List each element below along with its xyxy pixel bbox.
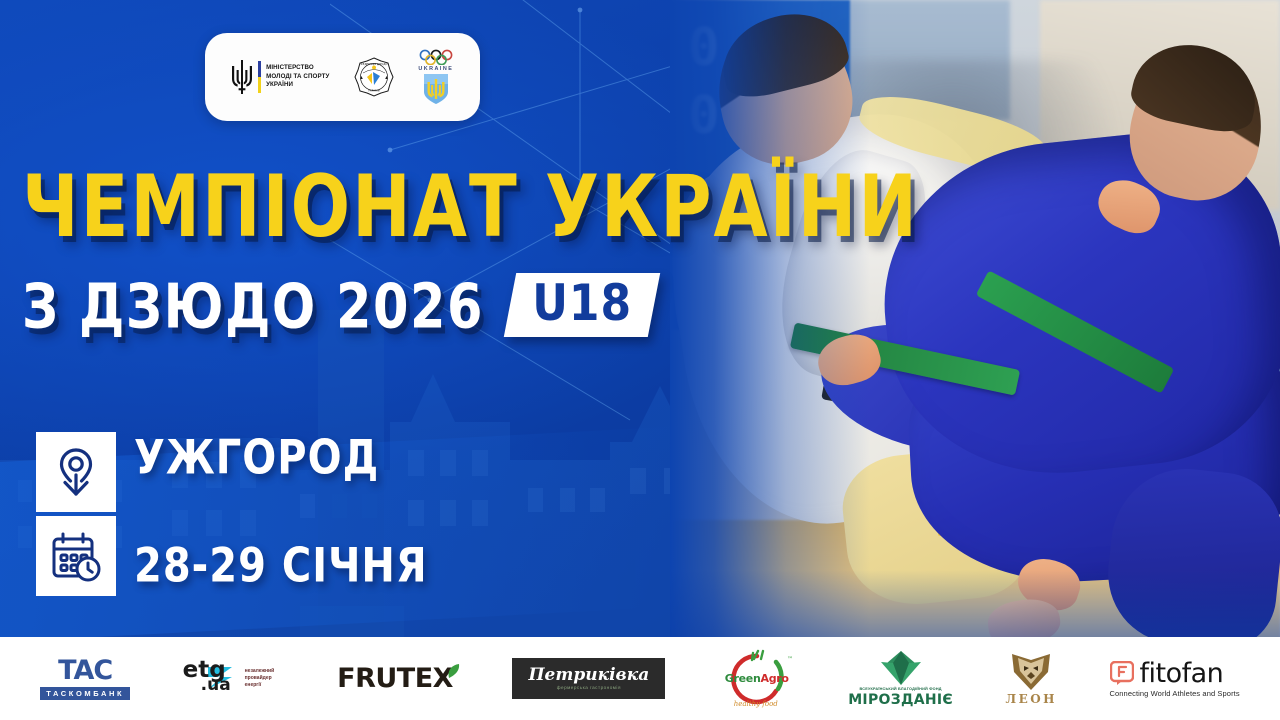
event-poster: 0 0 0 0 3:0 bbox=[0, 0, 1280, 720]
tascombank-mark: TAC bbox=[58, 657, 112, 684]
sponsor-greenagro[interactable]: ™ GreenAgro healthy food bbox=[718, 648, 796, 710]
svg-text:™: ™ bbox=[787, 656, 793, 663]
sponsor-leon[interactable]: ЛЕОН bbox=[1005, 652, 1057, 705]
olympic-shield-trident-icon bbox=[423, 73, 449, 105]
event-city: УЖГОРОД bbox=[134, 434, 428, 481]
judo-federation-seal-icon: ФЕДЕРАЦІЯ ДЗЮДО УКРАЇНИ bbox=[354, 57, 394, 97]
sponsor-etg-ua[interactable]: etg .ua незалежний провайдер енергії bbox=[183, 659, 285, 699]
olympic-rings-icon bbox=[418, 49, 454, 65]
poster-title-block: ЧЕМПІОНАТ УКРАЇНИ bbox=[22, 165, 742, 234]
tascombank-name: ТАСКОМБАНК bbox=[40, 687, 130, 700]
location-icon-box bbox=[36, 432, 116, 512]
svg-text:ФЕДЕРАЦІЯ ДЗЮДО: ФЕДЕРАЦІЯ ДЗЮДО bbox=[360, 62, 387, 66]
sponsor-mirozdanie[interactable]: ВСЕУКРАЇНСЬКИЙ БЛАГОДІЙНИЙ ФОНД МІРОЗДАН… bbox=[848, 651, 953, 707]
event-detail-texts: УЖГОРОД 28-29 СІЧНЯ bbox=[134, 432, 428, 596]
sponsor-petrykivka[interactable]: Петриківка фермерська гастрономія bbox=[512, 658, 665, 699]
location-pin-icon bbox=[48, 444, 104, 500]
title-line-2: З ДЗЮДО 2026 bbox=[22, 277, 484, 338]
sponsor-frutex[interactable]: FRUTEX bbox=[337, 665, 460, 692]
event-details-block: УЖГОРОД 28-29 СІЧНЯ bbox=[36, 432, 428, 596]
sponsor-tascombank[interactable]: TAC ТАСКОМБАНК bbox=[40, 657, 130, 700]
event-dates: 28-29 СІЧНЯ bbox=[134, 542, 428, 589]
ministry-name: МІНІСТЕРСТВО МОЛОДІ ТА СПОРТУ УКРАЇНИ bbox=[266, 64, 329, 90]
petrykivka-tagline: фермерська гастрономія bbox=[557, 685, 621, 690]
leaf-icon bbox=[447, 664, 460, 681]
mirozdanie-name: МІРОЗДАНІЄ bbox=[848, 693, 953, 707]
greenagro-name: GreenAgro bbox=[725, 673, 789, 684]
date-icon-box bbox=[36, 516, 116, 596]
frutex-name: FRUTEX bbox=[337, 665, 453, 692]
fitofan-bubble-icon bbox=[1110, 661, 1134, 685]
title-line-1: ЧЕМПІОНАТ УКРАЇНИ bbox=[22, 165, 742, 249]
petrykivka-name: Петриківка bbox=[528, 667, 649, 684]
ukraine-trident-icon bbox=[231, 60, 253, 94]
poster-subtitle-row: З ДЗЮДО 2026 U18 bbox=[22, 277, 654, 337]
judo-athletes-photo: 0 0 0 0 3:0 bbox=[670, 0, 1280, 640]
age-category-label: U18 bbox=[532, 279, 632, 329]
etg-tagline: незалежний провайдер енергії bbox=[245, 668, 285, 688]
olympic-country-label: UKRAINE bbox=[418, 66, 453, 72]
fitofan-name: fitofan bbox=[1140, 660, 1224, 687]
ministry-flag-bar bbox=[258, 61, 261, 93]
fitofan-tagline: Connecting World Athletes and Sports bbox=[1110, 689, 1240, 698]
olympic-committee-logo: UKRAINE bbox=[418, 49, 454, 105]
mirozdanie-leaf-icon bbox=[879, 651, 923, 685]
lion-head-icon bbox=[1008, 652, 1054, 692]
greenagro-tagline: healthy food bbox=[734, 700, 778, 708]
etg-text-domain: .ua bbox=[201, 677, 231, 694]
sponsor-fitofan[interactable]: fitofan Connecting World Athletes and Sp… bbox=[1110, 660, 1240, 698]
calendar-clock-icon bbox=[48, 528, 104, 584]
event-detail-icons bbox=[36, 432, 116, 596]
organizer-logo-bar: МІНІСТЕРСТВО МОЛОДІ ТА СПОРТУ УКРАЇНИ ФЕ… bbox=[205, 33, 480, 121]
etg-logo: etg .ua bbox=[183, 659, 241, 699]
leon-name: ЛЕОН bbox=[1005, 693, 1057, 705]
mirozdanie-tagline: ВСЕУКРАЇНСЬКИЙ БЛАГОДІЙНИЙ ФОНД bbox=[859, 687, 941, 691]
sponsor-bar: TAC ТАСКОМБАНК etg .ua незалежний провай… bbox=[0, 637, 1280, 720]
ministry-logo: МІНІСТЕРСТВО МОЛОДІ ТА СПОРТУ УКРАЇНИ bbox=[231, 60, 329, 94]
age-category-badge: U18 bbox=[504, 273, 660, 337]
